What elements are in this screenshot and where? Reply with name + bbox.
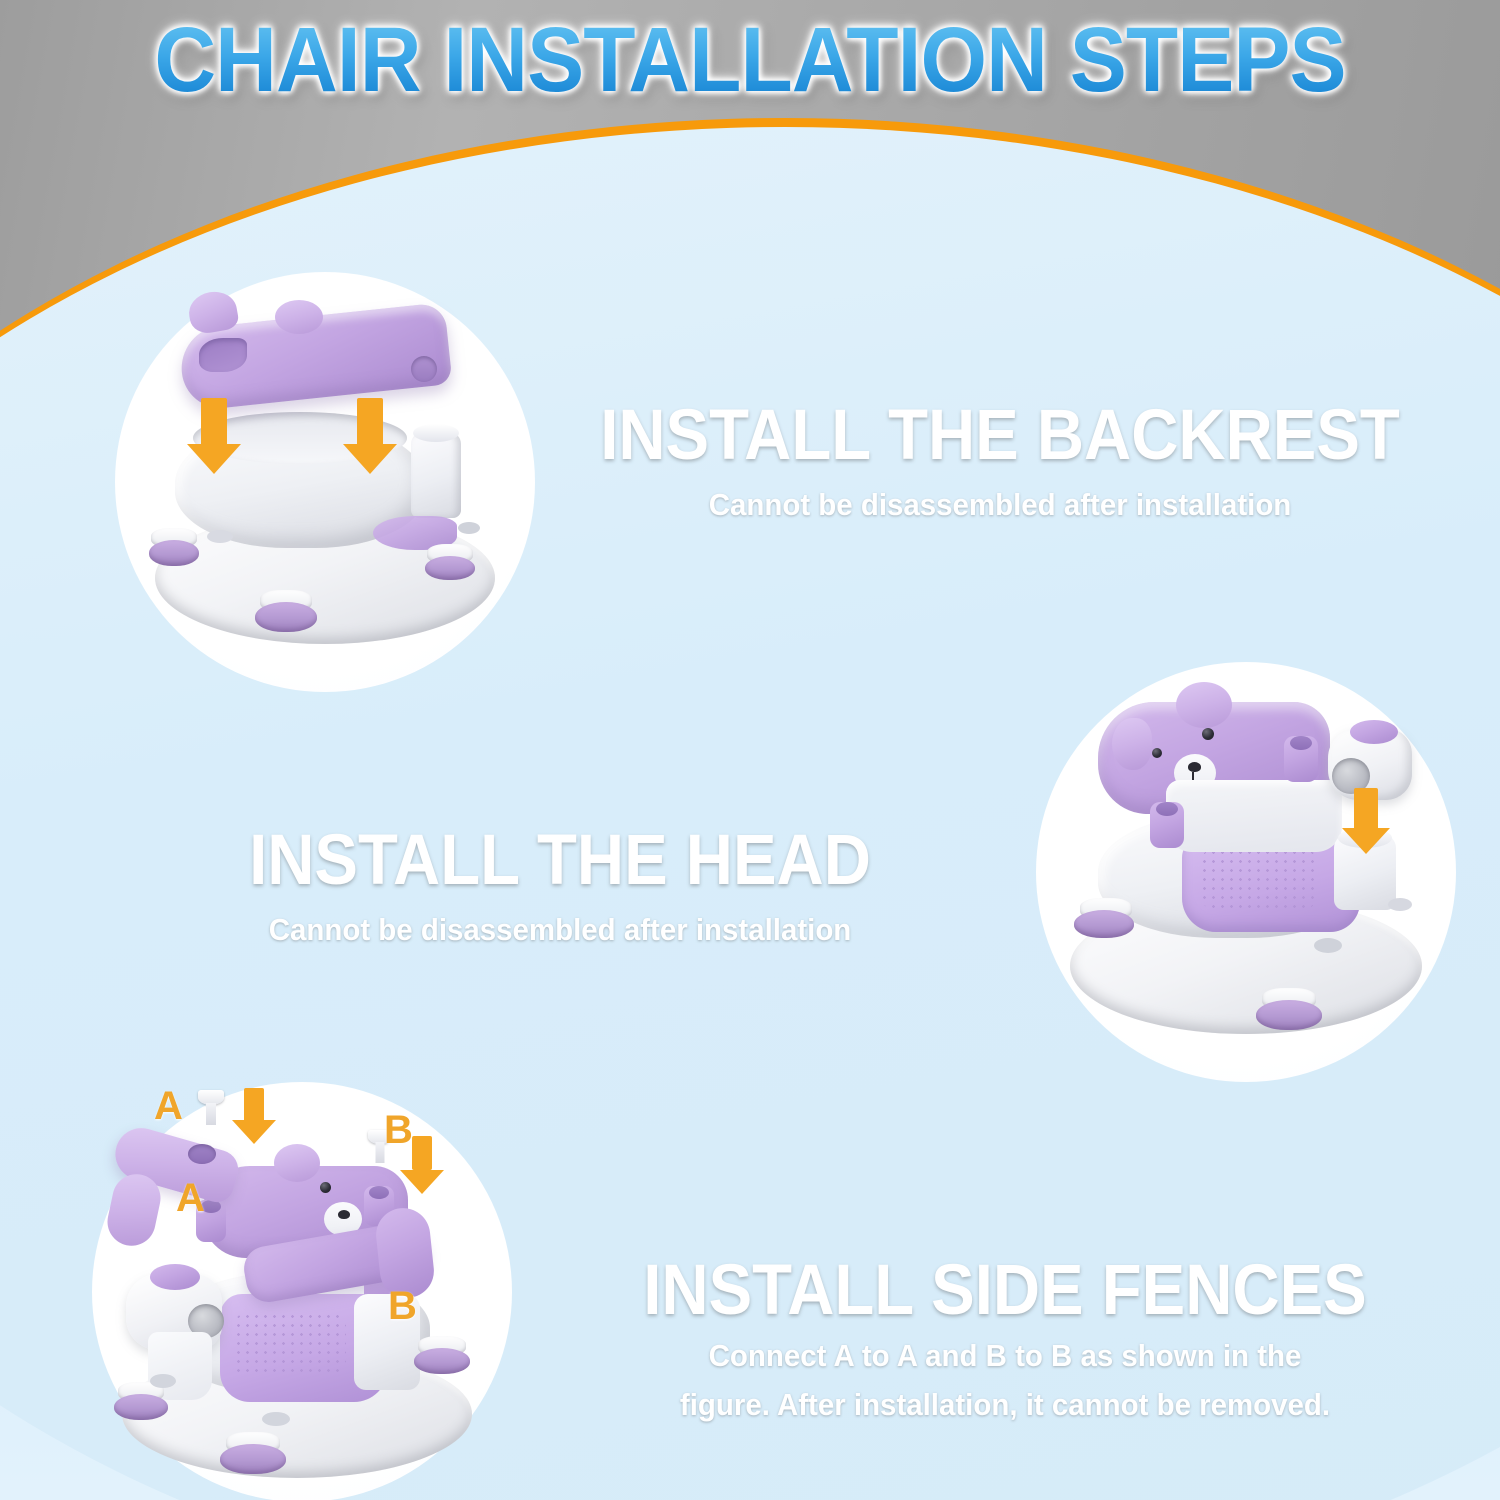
- knob-purple-cap-left: [150, 1264, 200, 1290]
- label-B-socket: B: [388, 1286, 417, 1326]
- label-A-socket: A: [176, 1178, 205, 1218]
- suction-cup-front: [220, 1444, 286, 1474]
- rail-left-A-socket-hole: [188, 1144, 216, 1164]
- plate-hole-left: [150, 1374, 176, 1388]
- bear-eye-right: [320, 1182, 331, 1193]
- step-2-heading: INSTALL THE HEAD: [137, 825, 983, 896]
- step-2-text-block: INSTALL THE HEAD Cannot be disassembled …: [100, 825, 1020, 949]
- step-2-product-photo: [1036, 662, 1456, 1082]
- bear-ear-right: [274, 1144, 320, 1182]
- seat-pad-perforations: [234, 1312, 346, 1378]
- install-arrow-left-icon: [187, 398, 241, 474]
- suction-cup-front: [255, 602, 317, 632]
- plate-hole-right: [458, 522, 480, 534]
- backrest-socket-right-hole: [1290, 736, 1312, 750]
- backrest-socket-right: [411, 356, 437, 382]
- suction-cup-left: [149, 540, 199, 566]
- step-1-subtext: Cannot be disassembled after installatio…: [563, 487, 1437, 524]
- backrest-ear-right: [275, 300, 323, 334]
- label-B-top: B: [384, 1110, 413, 1150]
- step-1-product-photo: [115, 272, 535, 692]
- seat-pad-perforations: [1200, 848, 1318, 910]
- side-post-right: [411, 432, 461, 518]
- suction-cup-left: [114, 1394, 168, 1420]
- install-arrow-icon: [1342, 788, 1390, 854]
- step-3-heading: INSTALL SIDE FENCES: [596, 1255, 1415, 1326]
- bear-eye-left: [1152, 748, 1162, 758]
- bear-nose: [338, 1210, 350, 1219]
- suction-cup-right: [425, 556, 475, 580]
- step-1-heading: INSTALL THE BACKREST: [577, 400, 1423, 471]
- step-2-subtext: Cannot be disassembled after installatio…: [123, 912, 997, 949]
- bear-eye-right: [1202, 728, 1214, 740]
- plate-hole: [1314, 938, 1342, 953]
- knob-purple-cap: [1350, 720, 1398, 744]
- page-title: CHAIR INSTALLATION STEPS: [53, 14, 1448, 108]
- bear-ear-right: [1176, 682, 1232, 728]
- step-3-subtext-line-1: Connect A to A and B to B as shown in th…: [582, 1338, 1428, 1375]
- step-3-product-photo: A A B B: [92, 1082, 512, 1500]
- plate-hole-left: [207, 530, 233, 543]
- backrest-socket-left-hole: [1156, 802, 1178, 816]
- side-post-right-cap: [413, 424, 459, 442]
- plate-hole-right: [1388, 898, 1412, 911]
- install-arrow-right-icon: [343, 398, 397, 474]
- socket-right-B-hole: [369, 1186, 389, 1199]
- install-arrow-A-icon: [232, 1088, 276, 1144]
- step-1-text-block: INSTALL THE BACKREST Cannot be disassemb…: [540, 400, 1460, 524]
- label-A-top: A: [154, 1086, 183, 1126]
- bear-ear-left: [1112, 718, 1152, 770]
- screw-A-icon: [198, 1090, 224, 1126]
- suction-cup-front: [1256, 1000, 1322, 1030]
- backrest-handle-hole: [199, 338, 247, 372]
- bear-nose: [1188, 762, 1201, 772]
- suction-cup-left: [1074, 910, 1134, 938]
- backrest-inner-panel: [1166, 780, 1342, 852]
- step-3-subtext-line-2: figure. After installation, it cannot be…: [582, 1387, 1428, 1424]
- suction-cup-right: [414, 1348, 470, 1374]
- infographic-poster: CHAIR INSTALLATION STEPS INSTALL THE BAC…: [0, 0, 1500, 1500]
- step-3-text-block: INSTALL SIDE FENCES Connect A to A and B…: [560, 1255, 1450, 1423]
- plate-hole-front: [262, 1412, 290, 1426]
